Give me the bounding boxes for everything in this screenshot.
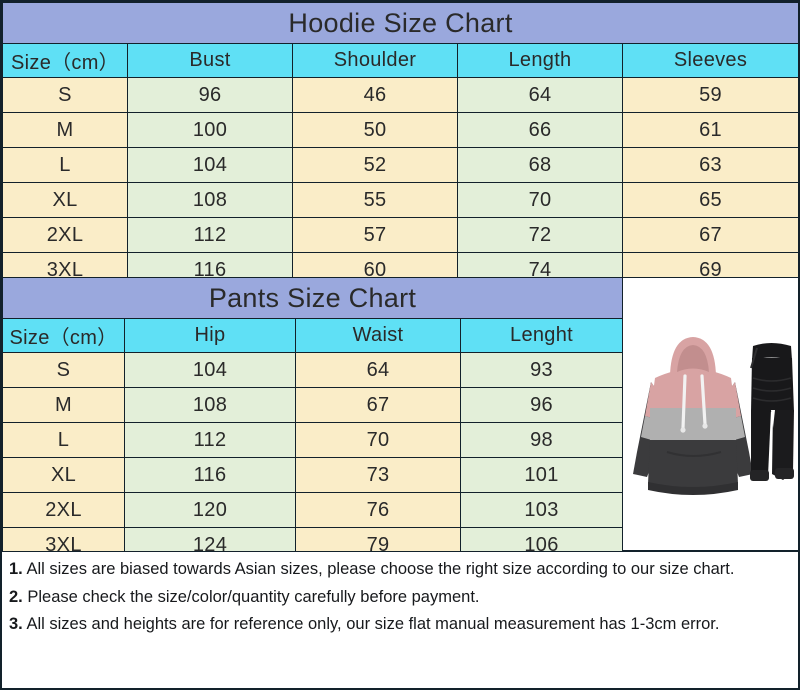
cell-size: 2XL <box>3 493 125 528</box>
note-number: 2. <box>9 588 23 606</box>
cell-bust: 100 <box>128 113 293 148</box>
cell-hip: 112 <box>125 423 296 458</box>
pants-title-row: Pants Size Chart <box>3 278 623 319</box>
table-row: XL 116 73 101 <box>3 458 623 493</box>
cell-size: M <box>3 113 128 148</box>
cell-size: XL <box>3 183 128 218</box>
hoodie-and-joggers-illustration <box>625 324 797 514</box>
hoodie-title-row: Hoodie Size Chart <box>3 3 799 44</box>
hoodie-col-header-sleeves: Sleeves <box>623 44 799 78</box>
table-row: S 96 46 64 59 <box>3 78 799 113</box>
hoodie-col-header-bust: Bust <box>128 44 293 78</box>
cell-bust: 112 <box>128 218 293 253</box>
pants-table: Pants Size Chart Size（cm） Hip Waist Leng… <box>2 277 623 563</box>
note-text: All sizes and heights are for reference … <box>23 615 720 633</box>
hoodie-size-chart: Hoodie Size Chart Size（cm） Bust Shoulder… <box>2 2 798 288</box>
notes-section: 1. All sizes are biased towards Asian si… <box>2 551 798 688</box>
note-item: 3. All sizes and heights are for referen… <box>9 612 792 638</box>
note-number: 3. <box>9 615 23 633</box>
cell-waist: 70 <box>296 423 461 458</box>
cell-sleeves: 67 <box>623 218 799 253</box>
cell-sleeves: 65 <box>623 183 799 218</box>
pants-col-header-size: Size（cm） <box>3 319 125 353</box>
note-text: All sizes are biased towards Asian sizes… <box>23 560 735 578</box>
table-row: M 100 50 66 61 <box>3 113 799 148</box>
cell-length: 103 <box>461 493 623 528</box>
table-row: S 104 64 93 <box>3 353 623 388</box>
hoodie-chart-title: Hoodie Size Chart <box>3 3 799 44</box>
pants-chart-title: Pants Size Chart <box>3 278 623 319</box>
cell-size: L <box>3 148 128 183</box>
pants-size-chart: Pants Size Chart Size（cm） Hip Waist Leng… <box>2 277 622 551</box>
hoodie-col-header-size: Size（cm） <box>3 44 128 78</box>
table-row: 2XL 120 76 103 <box>3 493 623 528</box>
cell-shoulder: 57 <box>293 218 458 253</box>
hoodie-header-row: Size（cm） Bust Shoulder Length Sleeves <box>3 44 799 78</box>
hoodie-illustration <box>633 337 753 495</box>
table-row: L 104 52 68 63 <box>3 148 799 183</box>
cell-sleeves: 63 <box>623 148 799 183</box>
table-row: 2XL 112 57 72 67 <box>3 218 799 253</box>
cell-size: XL <box>3 458 125 493</box>
cell-hip: 120 <box>125 493 296 528</box>
cell-length: 93 <box>461 353 623 388</box>
cell-length: 72 <box>458 218 623 253</box>
pants-header-row: Size（cm） Hip Waist Lenght <box>3 319 623 353</box>
pants-col-header-length: Lenght <box>461 319 623 353</box>
cell-length: 66 <box>458 113 623 148</box>
cell-waist: 67 <box>296 388 461 423</box>
cell-hip: 104 <box>125 353 296 388</box>
cell-hip: 116 <box>125 458 296 493</box>
hoodie-col-header-shoulder: Shoulder <box>293 44 458 78</box>
note-item: 2. Please check the size/color/quantity … <box>9 585 792 611</box>
note-number: 1. <box>9 560 23 578</box>
cell-waist: 64 <box>296 353 461 388</box>
table-row: M 108 67 96 <box>3 388 623 423</box>
hoodie-table: Hoodie Size Chart Size（cm） Bust Shoulder… <box>2 2 799 288</box>
cell-hip: 108 <box>125 388 296 423</box>
cell-length: 101 <box>461 458 623 493</box>
note-item: 1. All sizes are biased towards Asian si… <box>9 557 792 583</box>
cell-shoulder: 46 <box>293 78 458 113</box>
cell-size: L <box>3 423 125 458</box>
cell-bust: 96 <box>128 78 293 113</box>
cell-size: S <box>3 353 125 388</box>
cell-shoulder: 55 <box>293 183 458 218</box>
table-row: L 112 70 98 <box>3 423 623 458</box>
cell-size: 2XL <box>3 218 128 253</box>
cell-size: M <box>3 388 125 423</box>
cell-waist: 73 <box>296 458 461 493</box>
cell-sleeves: 59 <box>623 78 799 113</box>
cell-waist: 76 <box>296 493 461 528</box>
table-row: XL 108 55 70 65 <box>3 183 799 218</box>
cell-size: S <box>3 78 128 113</box>
size-chart-sheet: Hoodie Size Chart Size（cm） Bust Shoulder… <box>0 0 800 690</box>
pants-and-photo-area: Pants Size Chart Size（cm） Hip Waist Leng… <box>2 277 798 551</box>
hoodie-col-header-length: Length <box>458 44 623 78</box>
cell-shoulder: 50 <box>293 113 458 148</box>
note-text: Please check the size/color/quantity car… <box>23 588 480 606</box>
cell-length: 96 <box>461 388 623 423</box>
cell-bust: 108 <box>128 183 293 218</box>
cell-length: 68 <box>458 148 623 183</box>
cell-length: 98 <box>461 423 623 458</box>
joggers-illustration <box>750 343 794 481</box>
cell-shoulder: 52 <box>293 148 458 183</box>
cell-bust: 104 <box>128 148 293 183</box>
cell-length: 70 <box>458 183 623 218</box>
cell-length: 64 <box>458 78 623 113</box>
pants-col-header-waist: Waist <box>296 319 461 353</box>
pants-col-header-hip: Hip <box>125 319 296 353</box>
product-photo <box>622 277 798 551</box>
cell-sleeves: 61 <box>623 113 799 148</box>
